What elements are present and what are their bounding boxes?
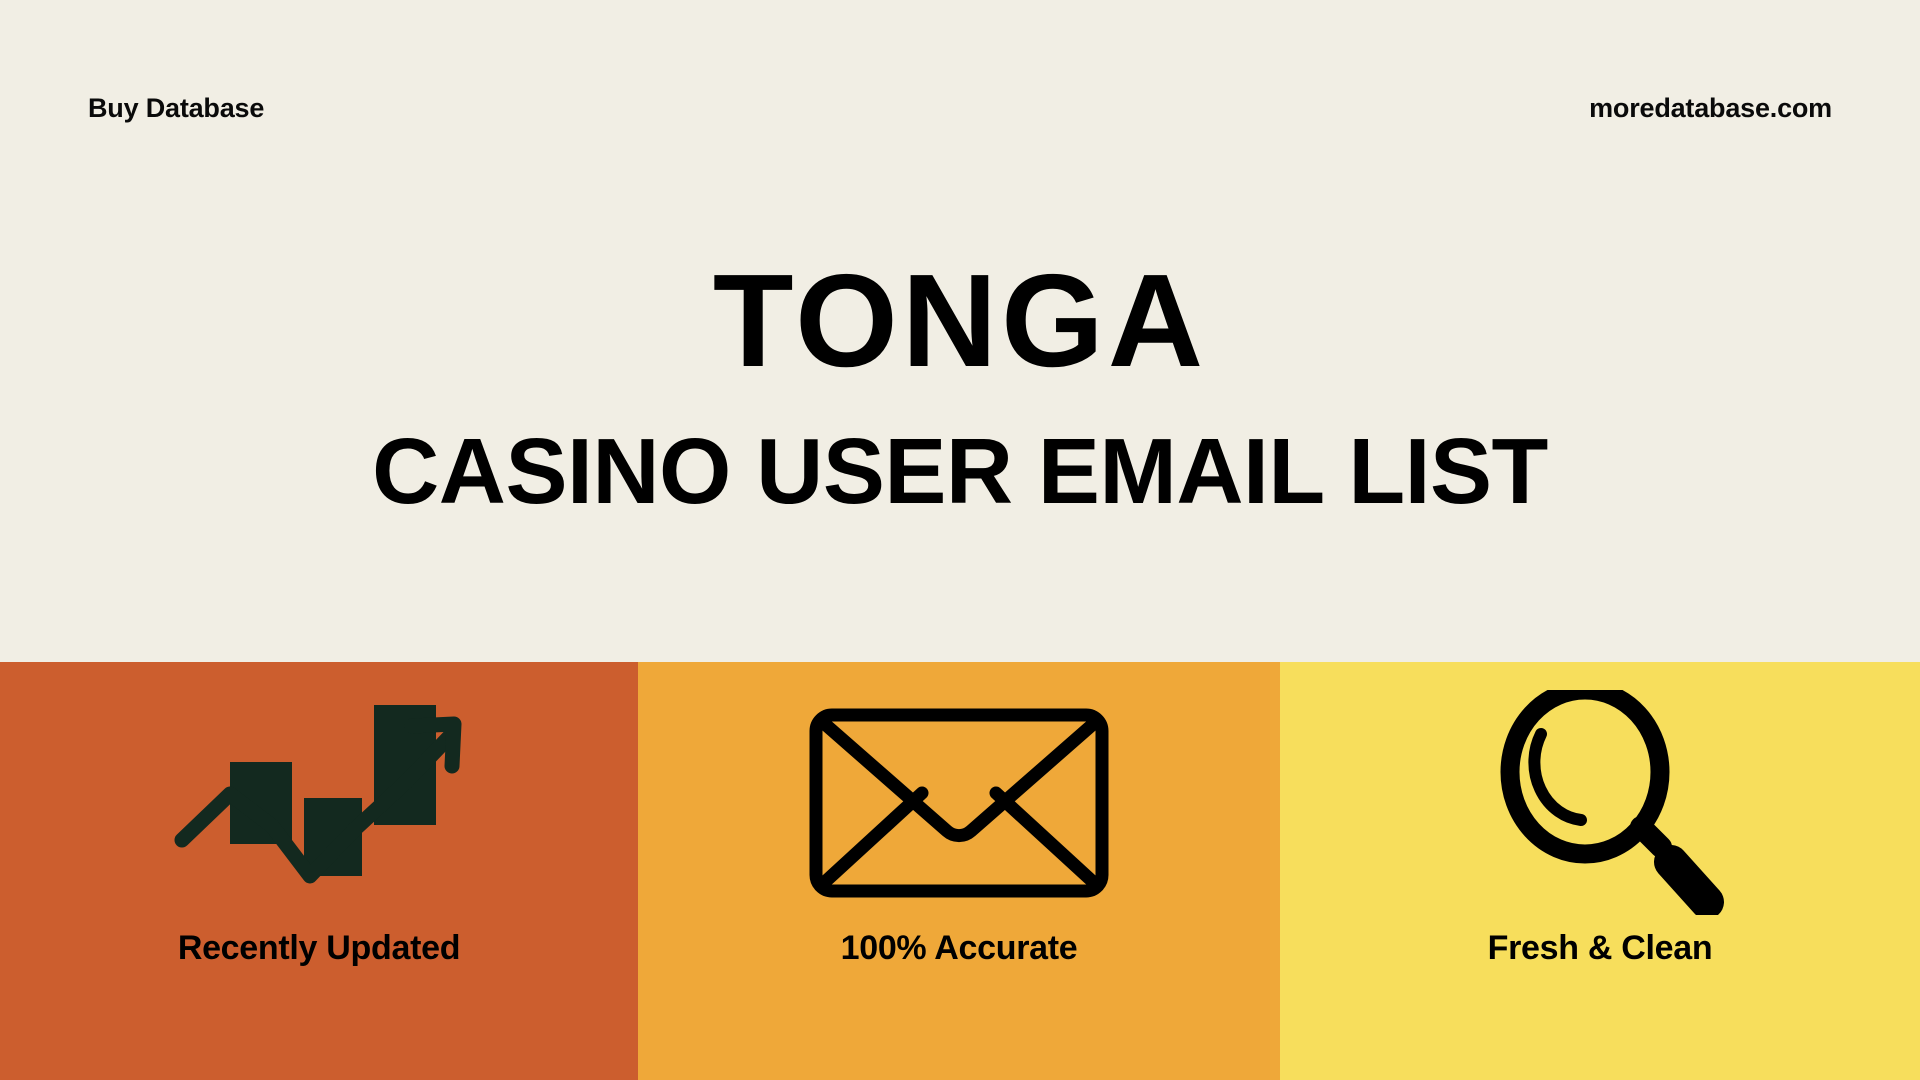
feature-panel-accurate: 100% Accurate (638, 662, 1280, 1080)
feature-panels: Recently Updated 100% Accurate (0, 662, 1920, 1080)
feature-label: Recently Updated (178, 929, 460, 968)
hero-section: TONGA CASINO USER EMAIL LIST (0, 255, 1920, 518)
poster-header: Buy Database moredatabase.com (0, 78, 1920, 138)
feature-label: 100% Accurate (841, 929, 1078, 968)
page-title: TONGA (0, 255, 1920, 387)
page-subtitle: CASINO USER EMAIL LIST (0, 425, 1920, 518)
website-url-label: moredatabase.com (1589, 93, 1832, 124)
brand-name-label: Buy Database (88, 93, 264, 124)
magnifying-glass-icon (1475, 690, 1725, 915)
envelope-icon (804, 690, 1114, 915)
feature-panel-recently-updated: Recently Updated (0, 662, 638, 1080)
feature-panel-fresh-clean: Fresh & Clean (1280, 662, 1920, 1080)
feature-label: Fresh & Clean (1488, 929, 1713, 968)
poster-canvas: Buy Database moredatabase.com TONGA CASI… (0, 0, 1920, 1080)
growth-chart-icon (154, 690, 484, 915)
